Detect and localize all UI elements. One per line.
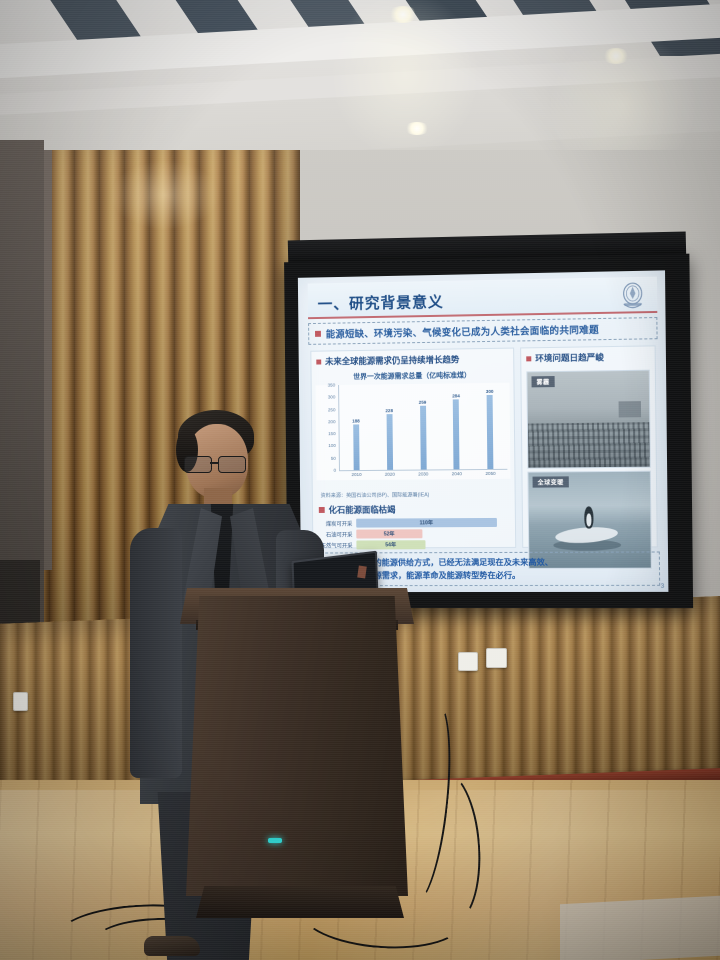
wall-light-reflection [110,160,220,230]
chart-bar-label: 284 [452,394,460,399]
chart-y-tick: 350 [328,383,336,388]
right-panel-heading-text: 环境问题日趋严峻 [535,351,604,364]
chart-bar-label: 188 [352,418,360,423]
chart-bar-label: 259 [419,400,427,405]
podium [186,596,408,896]
chart-bar [487,395,494,469]
glasses-lens-left [184,456,212,473]
chart-x-tick: 2040 [452,471,462,476]
wall-outlet[interactable] [458,652,478,671]
chart-caption: 世界一次能源需求总量（亿吨标准煤） [312,370,514,383]
chart-plot-area: 18820102282020259203028420403002050 [338,383,507,471]
wall-outlet[interactable] [13,692,28,711]
right-panel-heading: 环境问题日趋严峻 [521,346,655,368]
slide-title-bar: 一、研究背景意义 [308,277,658,320]
presenter-shoe [144,936,200,956]
fossil-bar: 110年 [356,518,497,528]
slide-banner: 能源短缺、环境污染、气候变化已成为人类社会面临的共同难题 [308,317,657,345]
chart-bar [453,400,460,470]
university-crest-logo [618,281,647,312]
photo-block [619,401,642,417]
laptop-clip [357,566,367,579]
penguin-icon [584,507,593,529]
bullet-square-icon [315,331,321,337]
glasses-lens-right [218,456,246,473]
photo-tag: 雾霾 [531,376,554,387]
slide-right-panel: 环境问题日趋严峻 雾霾 全球变暖 [520,345,658,548]
lecture-hall-scene: 一、研究背景意义 能源短缺、环境污染、气候变化已成为人类社会面临的共同难题 未来… [0,0,720,960]
downlight-icon [388,6,418,23]
podium-led-indicator [268,838,282,843]
slide-title: 一、研究背景意义 [318,291,444,314]
chart-bar-label: 300 [486,389,494,394]
presenter-arm-left [130,528,182,778]
chart-bar [353,424,359,470]
chart-x-tick: 2010 [352,472,362,477]
presentation-slide: 一、研究背景意义 能源短缺、环境污染、气候变化已成为人类社会面临的共同难题 未来… [298,270,669,592]
bullet-square-icon [316,359,321,364]
chart-bar [386,414,392,470]
chart-bar-label: 228 [385,408,393,413]
chart-bar [420,406,427,469]
fossil-bar: 52年 [356,529,422,538]
chart-x-tick: 2020 [385,472,395,477]
slide-page-number: 3 [661,584,664,590]
wall-outlet[interactable] [486,648,507,668]
left-panel-heading: 未来全球能源需求仍呈持续增长趋势 [311,349,513,372]
photo-tag: 全球变暖 [533,476,569,487]
glasses-bridge [210,462,218,464]
bullet-square-icon [526,356,531,361]
left-panel-heading-text: 未来全球能源需求仍呈持续增长趋势 [325,353,459,367]
podium-base [196,886,404,918]
smog-city-photo: 雾霾 [526,370,650,469]
glasses-icon [184,456,250,471]
slide-banner-text: 能源短缺、环境污染、气候变化已成为人类社会面临的共同难题 [326,322,599,341]
floor-strip [560,896,720,960]
chart-x-tick: 2030 [418,471,428,476]
downlight-icon [404,122,430,135]
chart-x-tick: 2050 [485,471,495,476]
downlight-icon [602,48,630,64]
fossil-bar: 54年 [356,540,425,549]
